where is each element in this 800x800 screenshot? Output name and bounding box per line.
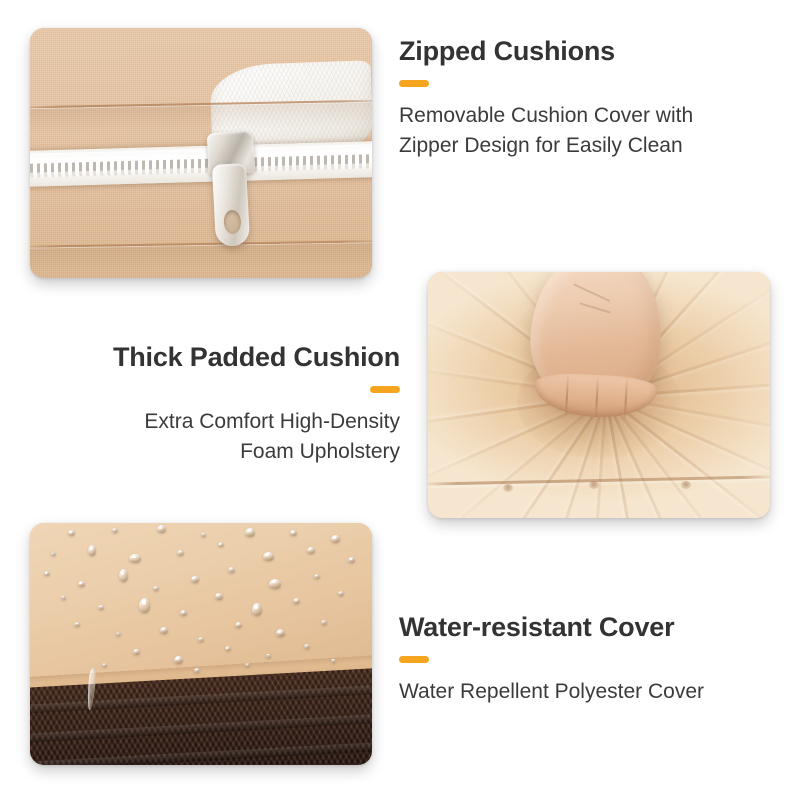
feature-block-thick-padded-cushion: Thick Padded Cushion Extra Comfort High-…: [40, 342, 400, 466]
water-droplet-icon: [78, 581, 85, 587]
water-droplet-icon: [338, 591, 344, 596]
water-droplet-icon: [160, 627, 168, 634]
rattan-strip-2: [30, 714, 372, 744]
water-droplet-icon: [348, 557, 355, 563]
quilt-tuft-center: [589, 481, 599, 489]
feature-description-zipped-line2: Zipper Design for Easily Clean: [399, 131, 751, 161]
feature-block-zipped-cushions: Zipped Cushions Removable Cushion Cover …: [399, 36, 751, 160]
water-droplet-icon: [174, 656, 183, 664]
water-droplet-icon: [269, 579, 281, 589]
knuckle-sep-3: [624, 377, 628, 419]
water-droplet-icon: [290, 530, 297, 536]
hand-vein-b: [579, 302, 610, 313]
water-droplet-icon: [263, 552, 274, 561]
water-droplet-icon: [157, 525, 166, 533]
water-droplet-icon: [44, 571, 50, 576]
feature-description-water-line1: Water Repellent Polyester Cover: [399, 677, 759, 707]
quilt-tuft-left: [503, 484, 513, 492]
water-droplet-icon: [331, 659, 336, 663]
feature-description-zipped-line1: Removable Cushion Cover with: [399, 101, 751, 131]
feature-block-water-resistant-cover: Water-resistant Cover Water Repellent Po…: [399, 612, 759, 707]
feature-description-thick-line1: Extra Comfort High-Density: [40, 407, 400, 437]
hand-vein-a: [573, 283, 610, 302]
water-droplet-icon: [252, 603, 262, 616]
knuckle-sep-2: [594, 375, 598, 417]
water-droplet-icon: [119, 569, 128, 582]
water-droplet-icon: [266, 654, 271, 658]
feature-image-zipped-cushions: [30, 28, 372, 278]
water-repellent-photo: [30, 523, 372, 765]
water-droplet-icon: [331, 535, 340, 543]
feature-description-thick-line2: Foam Upholstery: [40, 437, 400, 467]
water-droplet-icon: [307, 547, 315, 554]
rattan-strip-3: [30, 741, 372, 765]
water-droplet-icon: [177, 550, 184, 556]
water-droplet-icon: [215, 593, 223, 600]
water-droplet-icon: [201, 533, 206, 537]
feature-title-thick: Thick Padded Cushion: [40, 342, 400, 374]
feature-image-thick-padded-cushion: [428, 272, 770, 518]
water-droplet-icon: [133, 649, 140, 655]
water-droplet-icon: [228, 567, 235, 573]
water-droplet-icon: [153, 586, 159, 591]
water-droplet-icon: [304, 644, 310, 649]
water-droplet-icon: [321, 620, 327, 625]
water-droplet-icon: [245, 528, 255, 537]
water-droplet-icon: [191, 576, 199, 583]
water-droplet-icon: [116, 632, 121, 636]
zipper-pull-tab-icon: [212, 163, 250, 247]
water-droplet-icon: [314, 574, 320, 579]
feature-image-water-resistant-cover: [30, 523, 372, 765]
knuckle-sep-1: [565, 374, 569, 416]
water-droplet-icon: [139, 598, 150, 613]
zipper-photo: [30, 28, 372, 278]
water-droplet-icon: [68, 530, 75, 536]
water-droplet-icon: [112, 528, 118, 533]
rattan-strip-1: [30, 685, 372, 715]
water-droplet-icon: [88, 545, 96, 556]
water-droplet-icon: [198, 637, 204, 642]
water-droplet-icon: [51, 552, 56, 556]
accent-bar-icon-thick: [370, 386, 400, 393]
feature-title-zipped: Zipped Cushions: [399, 36, 751, 68]
feature-title-water: Water-resistant Cover: [399, 612, 759, 644]
cushion-press-photo: [428, 272, 770, 518]
water-droplet-icon: [61, 596, 66, 600]
accent-bar-icon-zipped: [399, 80, 429, 87]
accent-bar-icon-water: [399, 656, 429, 663]
